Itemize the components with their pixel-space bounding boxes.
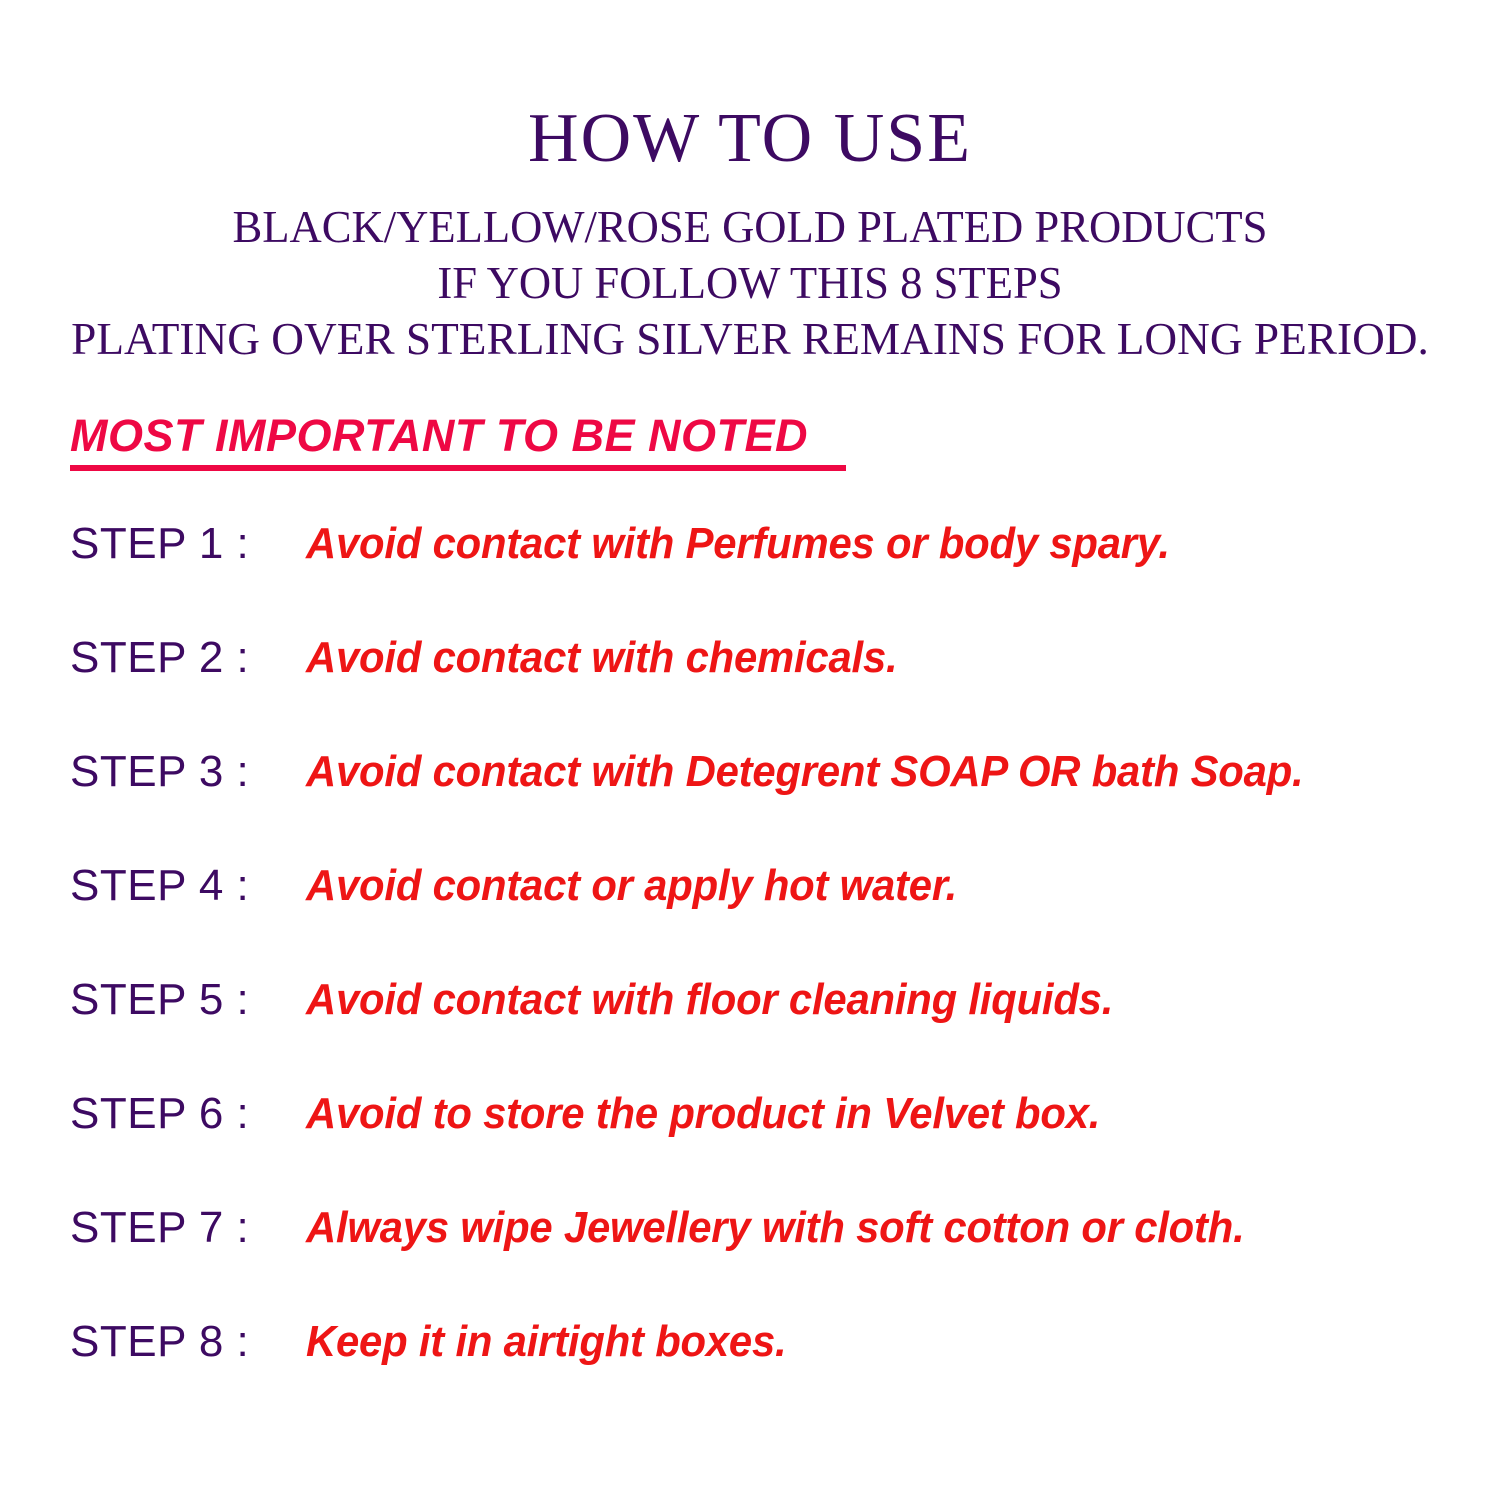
step-label-4: STEP 4 :: [70, 861, 249, 911]
step-row: STEP 2 : Avoid contact with chemicals.: [70, 633, 1490, 747]
step-label-7: STEP 7 :: [70, 1203, 249, 1253]
notice-heading-text: MOST IMPORTANT TO BE NOTED: [70, 412, 846, 459]
notice-underline: [70, 465, 846, 471]
step-row: STEP 1 : Avoid contact with Perfumes or …: [70, 519, 1490, 633]
subtitle-line-2: IF YOU FOLLOW THIS 8 STEPS: [23, 250, 1478, 306]
step-label-6: STEP 6 :: [70, 1089, 249, 1139]
step-label-2: STEP 2 :: [70, 633, 249, 683]
step-text-8: Keep it in airtight boxes.: [306, 1317, 786, 1367]
page-title: HOW TO USE: [0, 0, 1500, 174]
subtitle-block: BLACK/YELLOW/ROSE GOLD PLATED PRODUCTS I…: [0, 174, 1500, 362]
step-text-5: Avoid contact with floor cleaning liquid…: [306, 975, 1113, 1025]
step-text-4: Avoid contact or apply hot water.: [306, 861, 957, 911]
step-text-6: Avoid to store the product in Velvet box…: [306, 1089, 1100, 1139]
step-text-1: Avoid contact with Perfumes or body spar…: [306, 519, 1170, 569]
step-row: STEP 7 : Always wipe Jewellery with soft…: [70, 1203, 1490, 1317]
subtitle-line-3: PLATING OVER STERLING SILVER REMAINS FOR…: [11, 306, 1489, 362]
steps-list: STEP 1 : Avoid contact with Perfumes or …: [70, 519, 1490, 1431]
step-row: STEP 4 : Avoid contact or apply hot wate…: [70, 861, 1490, 975]
subtitle-line-1: BLACK/YELLOW/ROSE GOLD PLATED PRODUCTS: [23, 204, 1478, 250]
step-row: STEP 5 : Avoid contact with floor cleani…: [70, 975, 1490, 1089]
care-instructions-page: HOW TO USE BLACK/YELLOW/ROSE GOLD PLATED…: [0, 0, 1500, 1500]
step-label-1: STEP 1 :: [70, 519, 249, 569]
step-row: STEP 8 : Keep it in airtight boxes.: [70, 1317, 1490, 1431]
step-text-7: Always wipe Jewellery with soft cotton o…: [306, 1203, 1245, 1253]
notice-heading: MOST IMPORTANT TO BE NOTED: [70, 412, 846, 471]
step-text-2: Avoid contact with chemicals.: [306, 633, 897, 683]
step-label-5: STEP 5 :: [70, 975, 249, 1025]
step-label-3: STEP 3 :: [70, 747, 249, 797]
step-row: STEP 6 : Avoid to store the product in V…: [70, 1089, 1490, 1203]
step-label-8: STEP 8 :: [70, 1317, 249, 1367]
header: HOW TO USE BLACK/YELLOW/ROSE GOLD PLATED…: [0, 0, 1500, 362]
step-row: STEP 3 : Avoid contact with Detegrent SO…: [70, 747, 1490, 861]
step-text-3: Avoid contact with Detegrent SOAP OR bat…: [306, 747, 1303, 797]
